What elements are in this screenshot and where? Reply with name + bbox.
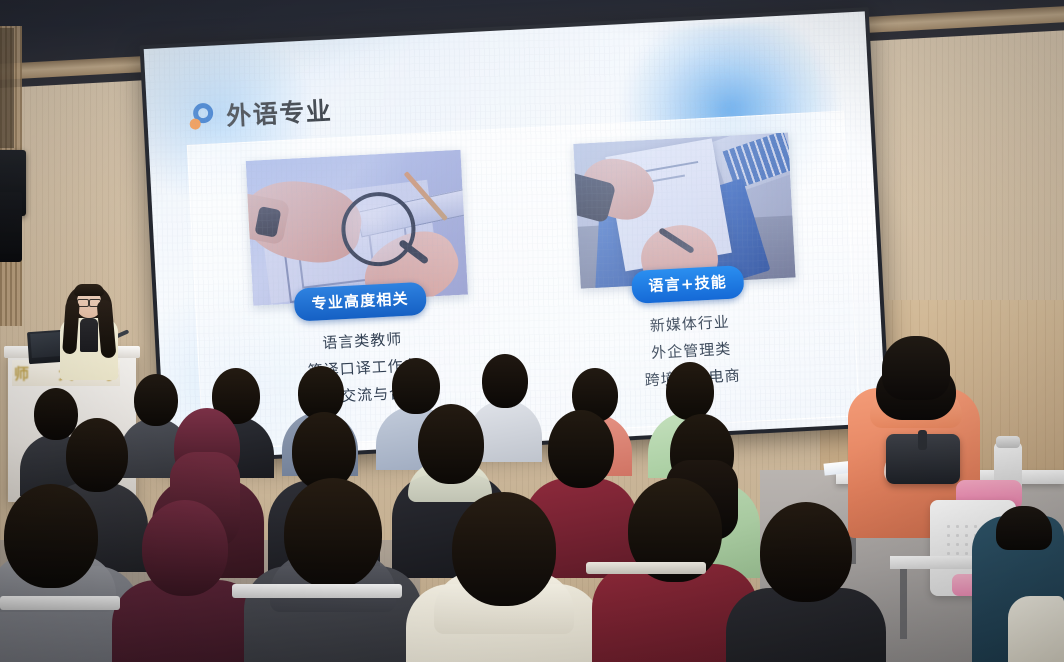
list-item xyxy=(244,478,422,662)
desk-edge xyxy=(0,596,120,610)
wall-speaker-lower xyxy=(0,192,22,262)
list-item xyxy=(726,502,886,662)
student-head xyxy=(760,502,852,602)
left-wall-shadow xyxy=(0,28,14,148)
student-head xyxy=(4,484,98,588)
student-head xyxy=(548,410,614,488)
audience xyxy=(0,352,1064,662)
badge-left: 专业高度相关 xyxy=(294,282,427,322)
lecture-hall-scene: 外语专业 xyxy=(0,0,1064,662)
presenter-fringe xyxy=(74,284,104,296)
desk-edge xyxy=(586,562,706,574)
badge-right: 语言+技能 xyxy=(631,265,745,304)
presenter-inner-top xyxy=(80,318,98,352)
list-item xyxy=(406,492,602,662)
student-head xyxy=(418,404,484,484)
student-head xyxy=(142,500,228,596)
desk-edge xyxy=(232,584,402,598)
student-head xyxy=(452,492,556,606)
student-head xyxy=(482,354,528,408)
list-item xyxy=(112,500,262,662)
student-head xyxy=(666,362,714,420)
student-head xyxy=(66,418,128,492)
student-head xyxy=(284,478,382,588)
